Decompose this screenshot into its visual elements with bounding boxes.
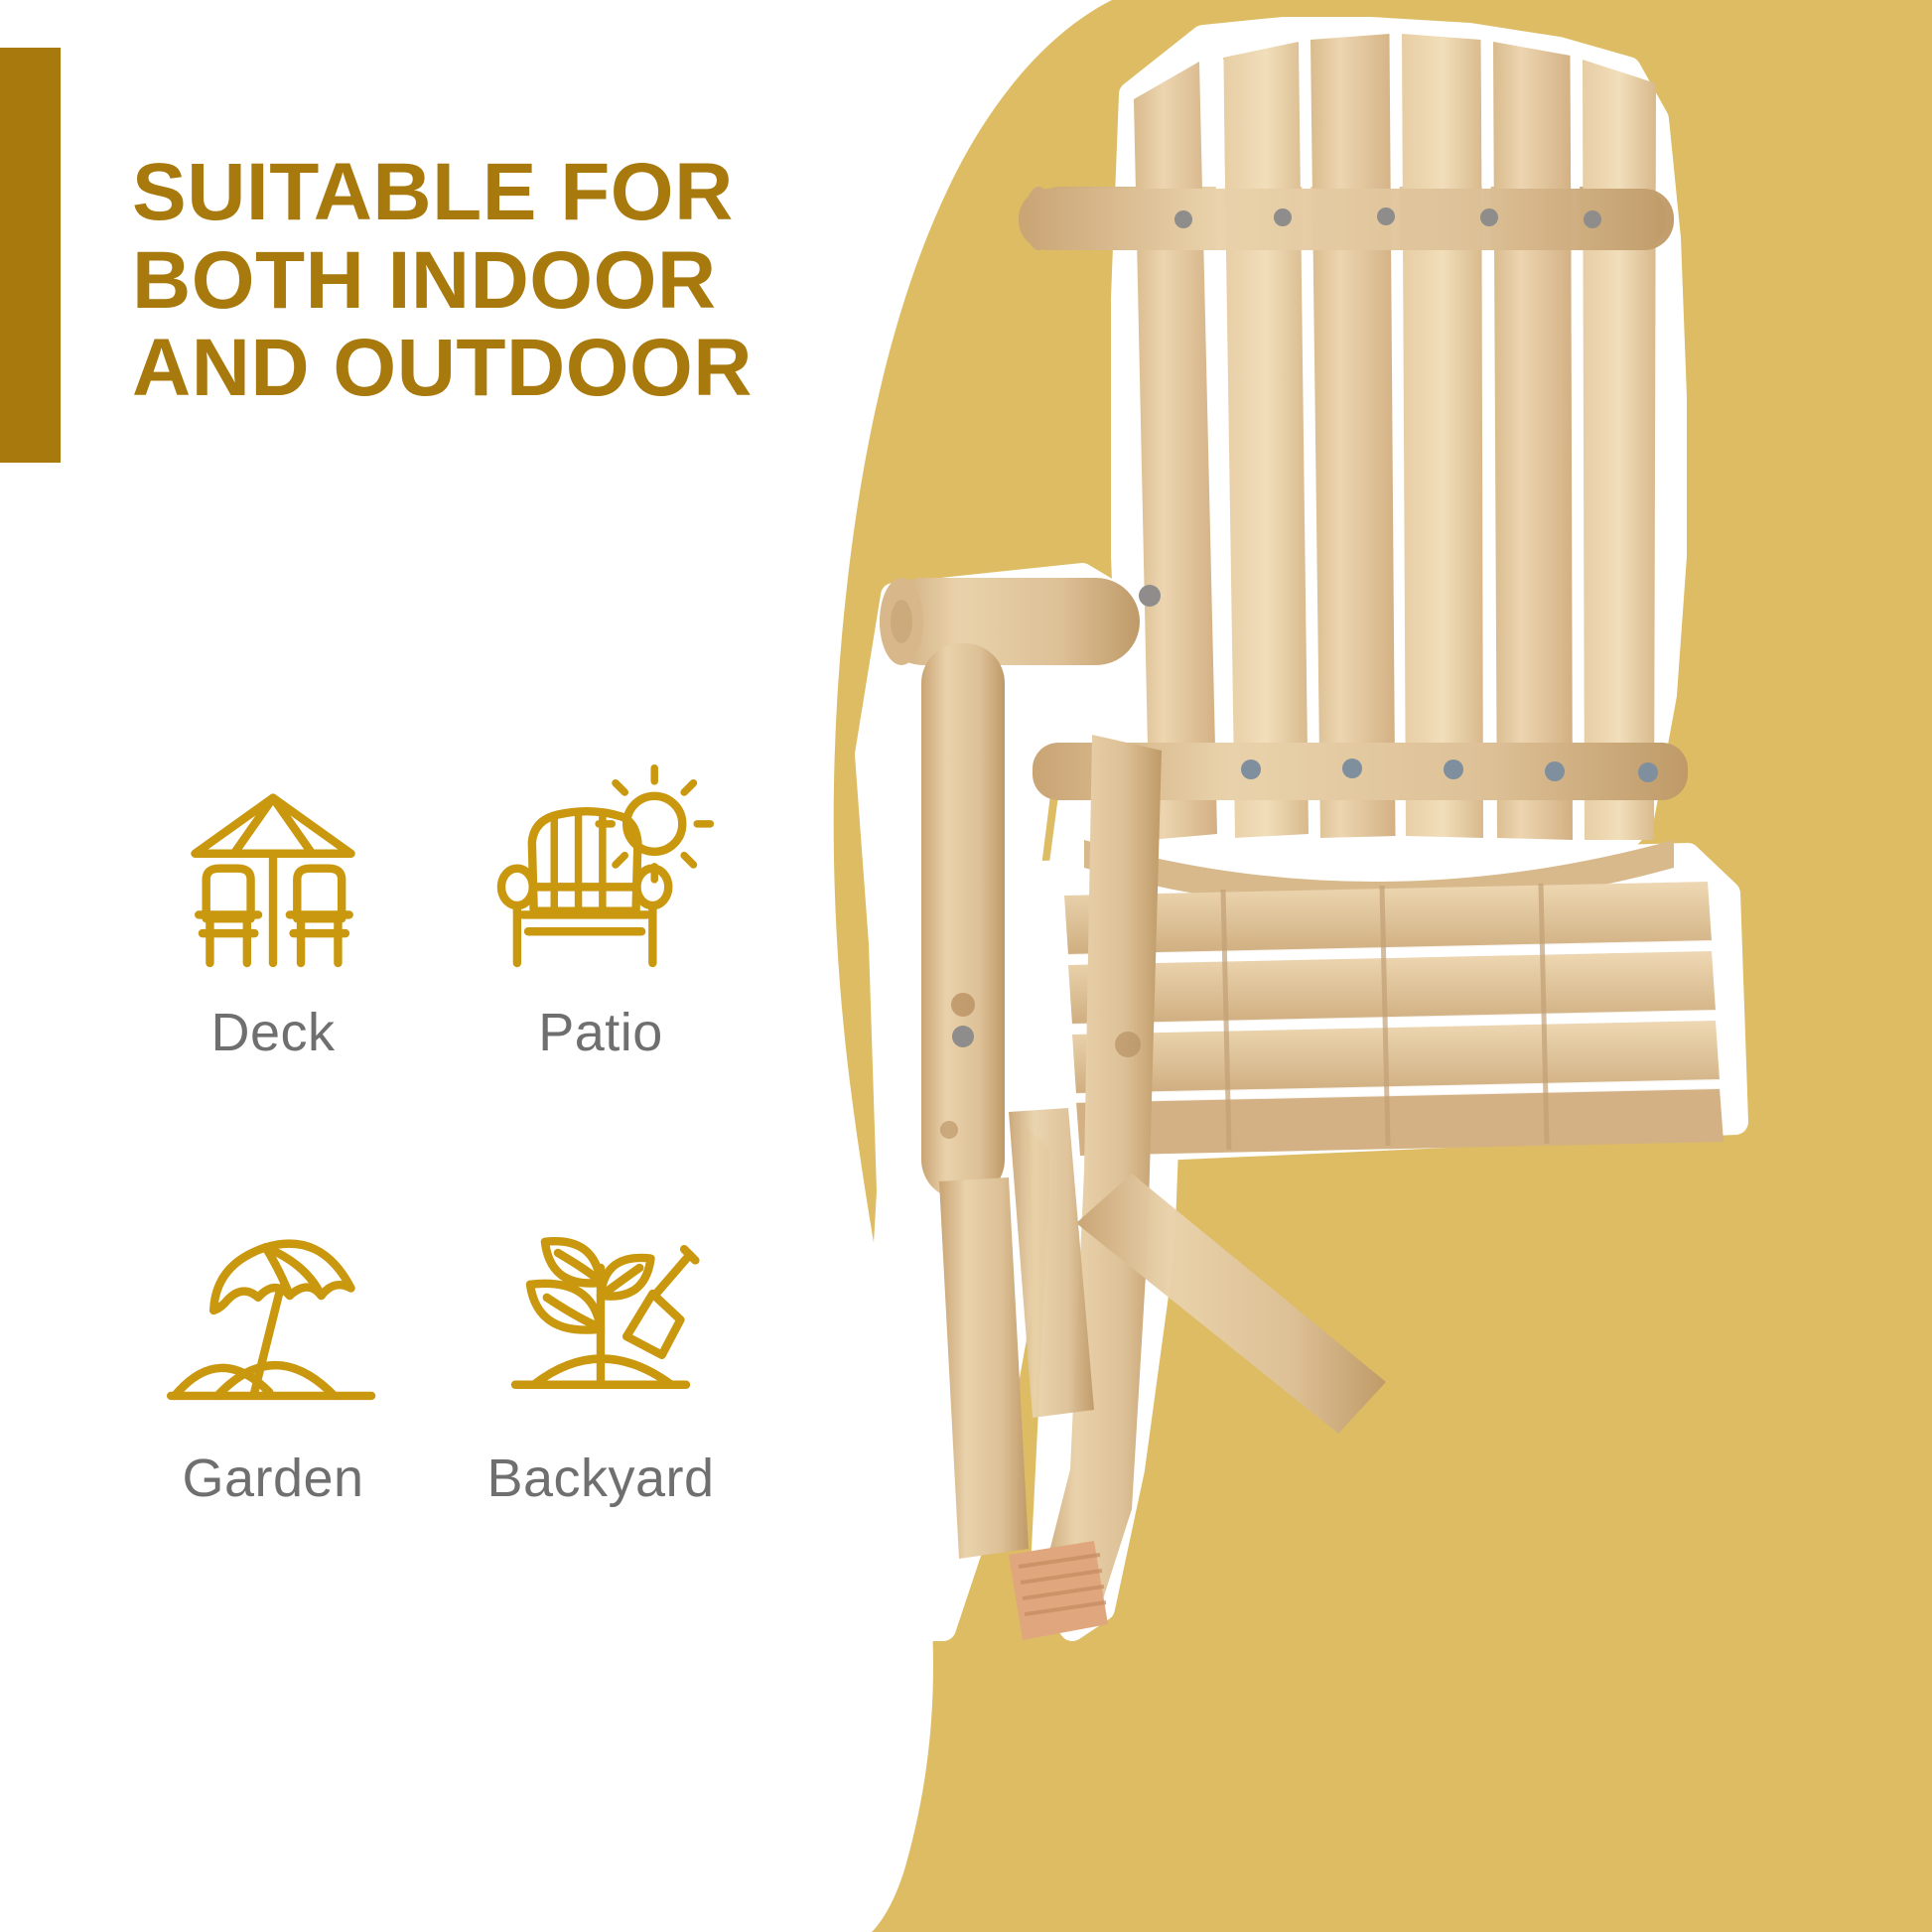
page-title: SUITABLE FOR BOTH INDOOR AND OUTDOOR [132, 149, 887, 413]
product-image-rocking-chair [834, 0, 1932, 1932]
left-accent-bar [0, 48, 61, 463]
infographic-canvas: SUITABLE FOR BOTH INDOOR AND OUTDOOR [0, 0, 1932, 1932]
beach-umbrella-on-dune-icon [159, 1210, 387, 1424]
adirondack-chair-with-sun-icon [486, 764, 715, 978]
feature-item-garden[interactable]: Garden [109, 1210, 437, 1505]
feature-item-deck[interactable]: Deck [109, 764, 437, 1059]
feature-label-deck: Deck [210, 1006, 335, 1059]
umbrella-with-two-chairs-icon [159, 764, 387, 978]
seedling-with-shovel-icon [486, 1210, 715, 1424]
feature-item-backyard[interactable]: Backyard [437, 1210, 764, 1505]
feature-item-patio[interactable]: Patio [437, 764, 764, 1059]
feature-label-garden: Garden [182, 1451, 363, 1505]
feature-grid: Deck [109, 764, 764, 1505]
feature-label-backyard: Backyard [486, 1451, 714, 1505]
feature-label-patio: Patio [538, 1006, 663, 1059]
